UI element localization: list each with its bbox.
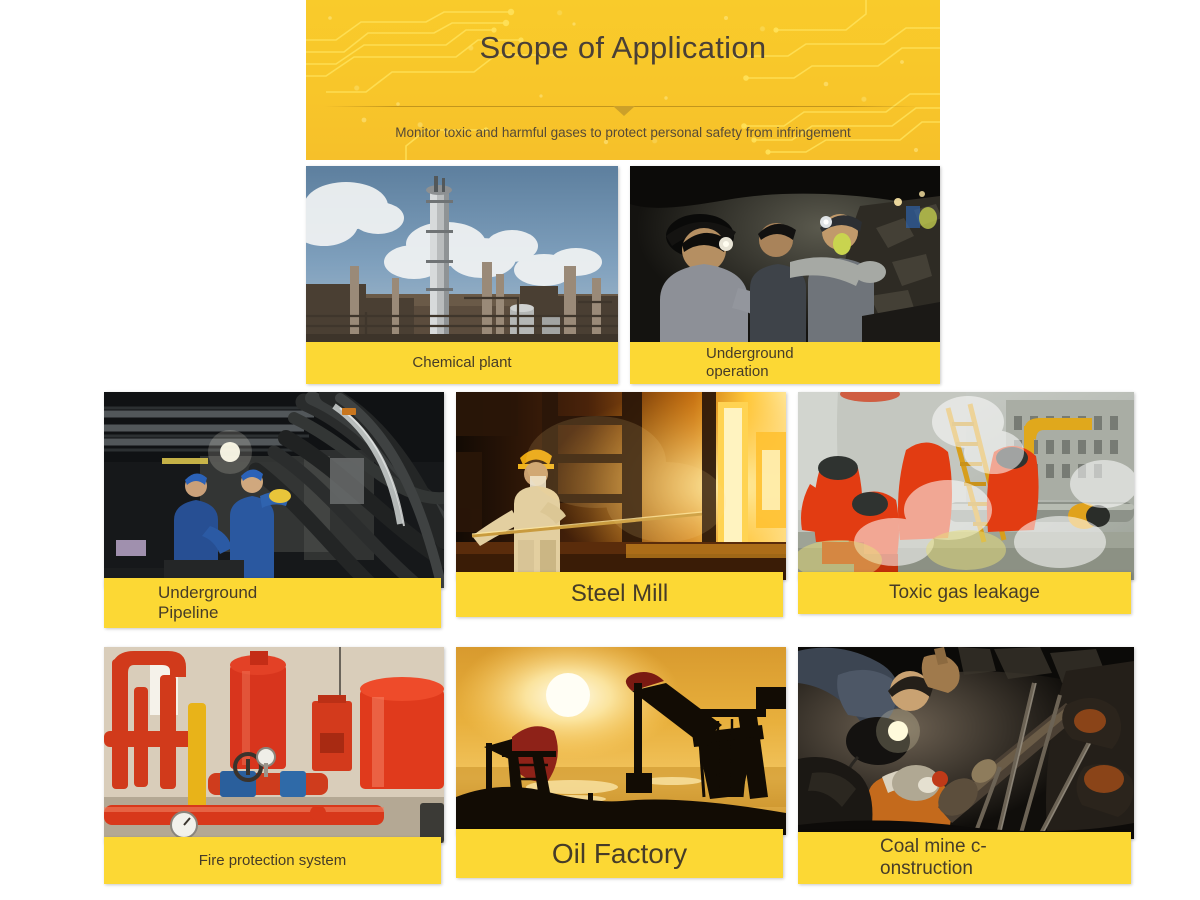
page-title: Scope of Application: [306, 30, 940, 66]
panel-oil-factory[interactable]: Oil Factory: [456, 647, 786, 884]
banner-subtitle: Monitor toxic and harmful gases to prote…: [306, 125, 940, 140]
panel-coal-mine-construction[interactable]: Coal mine c- onstruction: [798, 647, 1134, 884]
scope-of-application-banner: Scope of Application Monitor toxic and h…: [306, 0, 940, 160]
caption-underground-pipeline: Underground Pipeline: [104, 578, 441, 628]
caption-text: Toxic gas leakage: [889, 582, 1040, 604]
panel-toxic-gas-leakage[interactable]: Toxic gas leakage: [798, 392, 1134, 628]
photo-oil-factory: [456, 647, 786, 835]
caption-underground-operation: Underground operation: [630, 342, 940, 384]
chevron-down-icon: [613, 106, 635, 116]
caption-text: Coal mine c- onstruction: [880, 836, 987, 881]
panel-steel-mill[interactable]: Steel Mill: [456, 392, 786, 628]
photo-coal-mine-construction: [798, 647, 1134, 839]
photo-underground-pipeline: [104, 392, 444, 588]
caption-steel-mill: Steel Mill: [456, 572, 783, 617]
caption-toxic-gas-leakage: Toxic gas leakage: [798, 572, 1131, 614]
panel-chemical-plant[interactable]: Chemical plant: [306, 166, 618, 384]
caption-text: Fire protection system: [199, 852, 347, 870]
caption-text: Underground operation: [706, 345, 794, 380]
panel-underground-pipeline[interactable]: Underground Pipeline: [104, 392, 444, 628]
photo-fire-protection-system: [104, 647, 444, 843]
caption-oil-factory: Oil Factory: [456, 829, 783, 878]
caption-text: Underground Pipeline: [158, 583, 257, 623]
panel-underground-operation[interactable]: Underground operation: [630, 166, 940, 384]
photo-steel-mill: [456, 392, 786, 580]
caption-text: Chemical plant: [412, 354, 511, 372]
caption-text: Oil Factory: [552, 837, 687, 870]
caption-fire-protection-system: Fire protection system: [104, 837, 441, 884]
caption-coal-mine-construction: Coal mine c- onstruction: [798, 832, 1131, 884]
caption-chemical-plant: Chemical plant: [306, 342, 618, 384]
panel-fire-protection-system[interactable]: Fire protection system: [104, 647, 444, 884]
photo-underground-operation: [630, 166, 940, 342]
caption-text: Steel Mill: [571, 580, 668, 608]
photo-chemical-plant: [306, 166, 618, 342]
photo-toxic-gas-leakage: [798, 392, 1134, 580]
